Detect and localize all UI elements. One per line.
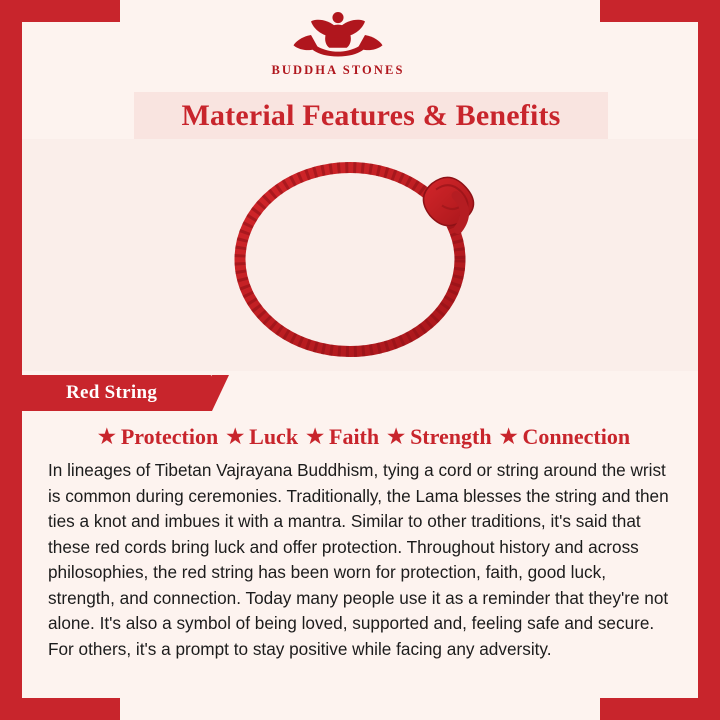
keyword-item: ★ Faith bbox=[298, 424, 379, 450]
red-string-bracelet-image bbox=[210, 148, 510, 363]
page-title: Material Features & Benefits bbox=[181, 99, 560, 133]
frame-left-bar bbox=[0, 0, 22, 720]
star-icon: ★ bbox=[98, 427, 116, 447]
keyword-label: Protection bbox=[121, 424, 218, 450]
benefit-keywords: ★ Protection ★ Luck ★ Faith ★ Strength ★… bbox=[22, 418, 698, 456]
keyword-item: ★ Strength bbox=[379, 424, 491, 450]
star-icon: ★ bbox=[387, 427, 405, 447]
star-icon: ★ bbox=[500, 427, 518, 447]
keyword-label: Faith bbox=[329, 424, 379, 450]
keyword-item: ★ Connection bbox=[492, 424, 631, 450]
keyword-label: Strength bbox=[410, 424, 492, 450]
keyword-item: ★ Protection bbox=[90, 424, 218, 450]
frame-bottom-right-corner bbox=[600, 698, 720, 720]
product-label-tab: Red String bbox=[22, 375, 212, 411]
brand-logo: BUDDHA STONES bbox=[0, 8, 676, 90]
product-label: Red String bbox=[22, 382, 157, 404]
product-photo-area bbox=[22, 139, 698, 371]
star-icon: ★ bbox=[226, 427, 244, 447]
brand-name: BUDDHA STONES bbox=[271, 63, 404, 78]
keyword-item: ★ Luck bbox=[218, 424, 298, 450]
section-title-band: Material Features & Benefits bbox=[134, 92, 608, 139]
keyword-label: Connection bbox=[523, 424, 631, 450]
frame-bottom-left-corner bbox=[0, 698, 120, 720]
infographic-page: BUDDHA STONES Material Features & Benefi… bbox=[0, 0, 720, 720]
frame-right-bar bbox=[698, 0, 720, 720]
lotus-meditation-icon bbox=[290, 8, 386, 62]
keyword-label: Luck bbox=[249, 424, 298, 450]
star-icon: ★ bbox=[306, 427, 324, 447]
description-text: In lineages of Tibetan Vajrayana Buddhis… bbox=[22, 458, 698, 662]
